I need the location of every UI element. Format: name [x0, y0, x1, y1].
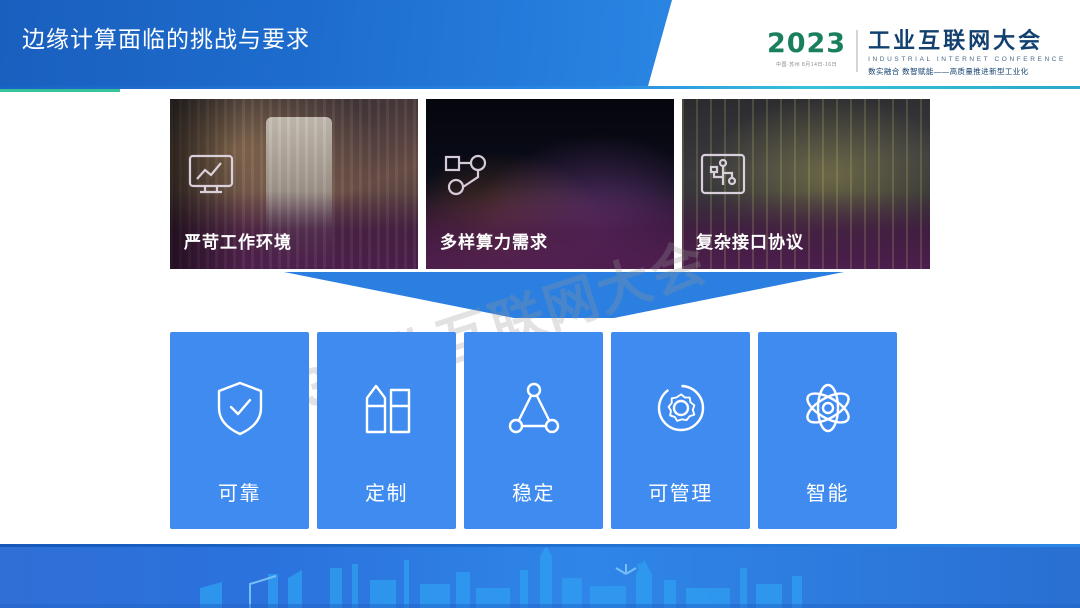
requirement-tile: 稳定	[464, 332, 603, 529]
monitor-chart-icon	[184, 147, 238, 206]
challenge-card-list: 严苛工作环境 多样算力需求	[170, 99, 930, 269]
network-nodes-icon	[440, 147, 494, 206]
logo-year-subtitle: 中国·苏州 8月14日-16日	[767, 61, 846, 68]
atom-icon	[800, 378, 856, 443]
requirement-tile-label: 稳定	[512, 477, 555, 506]
logo-slogan: 数实融合 数智赋能——高质量推进新型工业化	[868, 66, 1066, 77]
logo-name-cn: 工业互联网大会	[868, 30, 1066, 53]
requirement-tile: 可靠	[170, 332, 309, 529]
conference-logo: 2023 中国·苏州 8月14日-16日 工业互联网大会 INDUSTRIAL …	[767, 30, 1066, 77]
challenge-card-label: 复杂接口协议	[696, 228, 804, 253]
requirement-tile: 可管理	[611, 332, 750, 529]
modular-blocks-icon	[359, 378, 415, 443]
down-arrow-shape	[284, 272, 844, 322]
requirement-tile: 定制	[317, 332, 456, 529]
requirement-tile-label: 定制	[365, 477, 408, 506]
shield-check-icon	[212, 378, 268, 443]
usb-port-icon	[696, 147, 750, 206]
footer-skyline	[0, 544, 1080, 608]
page-title: 边缘计算面临的挑战与要求	[22, 20, 310, 54]
logo-year: 2023	[767, 30, 846, 57]
requirement-tile-label: 可管理	[648, 477, 713, 506]
challenge-card: 复杂接口协议	[682, 99, 930, 269]
header-divider-accent	[0, 89, 120, 92]
challenge-card-label: 严苛工作环境	[184, 228, 292, 253]
challenge-card-label: 多样算力需求	[440, 228, 548, 253]
requirement-tile-label: 可靠	[218, 477, 261, 506]
gear-cycle-icon	[653, 378, 709, 443]
requirement-tile: 智能	[758, 332, 897, 529]
slide-root: 边缘计算面临的挑战与要求 2023 中国·苏州 8月14日-16日 工业互联网大…	[0, 0, 1080, 608]
requirement-tile-list: 可靠 定制 稳定	[170, 332, 897, 529]
triangle-nodes-icon	[506, 378, 562, 443]
header-divider-line	[0, 86, 1080, 89]
requirement-tile-label: 智能	[806, 477, 849, 506]
challenge-card: 严苛工作环境	[170, 99, 418, 269]
logo-name-en: INDUSTRIAL INTERNET CONFERENCE	[868, 56, 1066, 63]
challenge-card: 多样算力需求	[426, 99, 674, 269]
logo-divider	[856, 30, 858, 72]
footer-top-line	[0, 544, 1080, 547]
skyline-graphic	[0, 544, 1080, 608]
